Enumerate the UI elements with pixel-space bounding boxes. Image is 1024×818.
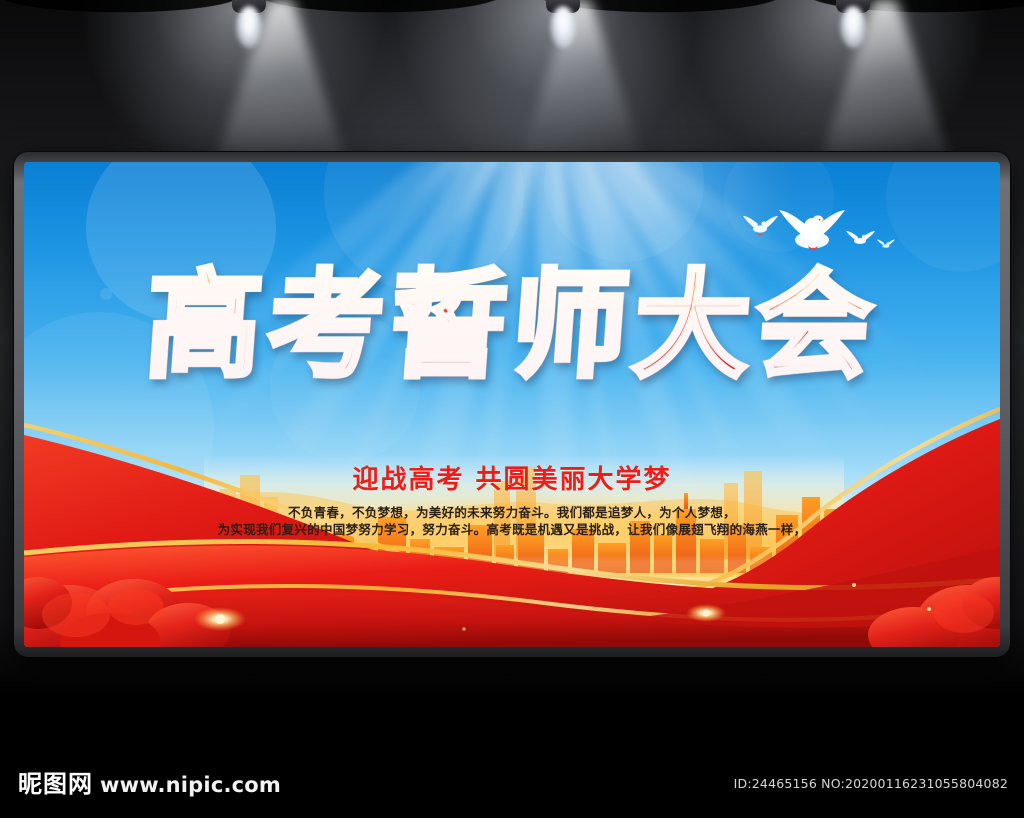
banner-screen: 高考誓师大会 迎战高考 共圆美丽大学梦 不负青春，不负梦想，为美好的未来努力奋斗… — [24, 162, 1000, 647]
footer-bar: 昵图网 www.nipic.com ID:24465156 NO:2020011… — [0, 698, 1024, 818]
spotlight-bulb-right — [840, 6, 866, 48]
spotlight-bulb-center — [550, 6, 576, 48]
nipic-logo-url: www.nipic.com — [100, 775, 281, 796]
nipic-logo[interactable]: 昵图网 www.nipic.com — [18, 772, 281, 796]
dove-flock-icon — [738, 194, 898, 274]
poster-body-line-2: 为实现我们复兴的中国梦努力学习，努力奋斗。高考既是机遇又是挑战，让我们像展翅飞翔… — [24, 522, 1000, 539]
banner-frame: 高考誓师大会 迎战高考 共圆美丽大学梦 不负青春，不负梦想，为美好的未来努力奋斗… — [14, 152, 1010, 657]
spotlight-bulb-left — [236, 6, 262, 48]
poster-subtitle: 迎战高考 共圆美丽大学梦 — [24, 459, 1000, 496]
poster-text-block: 迎战高考 共圆美丽大学梦 不负青春，不负梦想，为美好的未来努力奋斗。我们都是追梦… — [24, 459, 1000, 538]
poster-body: 不负青春，不负梦想，为美好的未来努力奋斗。我们都是追梦人，为个人梦想， 为实现我… — [24, 505, 1000, 538]
bokeh-circle — [100, 288, 112, 300]
ceiling-shadow — [0, 0, 1024, 46]
screenshot-root: 高考誓师大会 迎战高考 共圆美丽大学梦 不负青春，不负梦想，为美好的未来努力奋斗… — [0, 0, 1024, 818]
asset-id-text: ID:24465156 NO:20200116231055804082 — [734, 776, 1008, 791]
nipic-logo-cn: 昵图网 — [18, 772, 93, 796]
poster-body-line-1: 不负青春，不负梦想，为美好的未来努力奋斗。我们都是追梦人，为个人梦想， — [24, 505, 1000, 522]
